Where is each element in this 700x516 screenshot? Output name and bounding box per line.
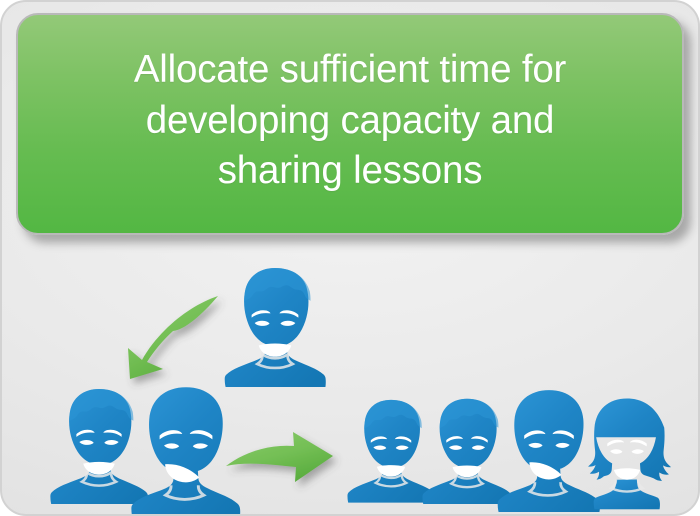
slide-canvas: Allocate sufficient time for developing …	[0, 0, 700, 516]
page-title: Allocate sufficient time for developing …	[134, 45, 566, 197]
title-banner: Allocate sufficient time for developing …	[16, 13, 684, 235]
figure-group-member-4	[580, 396, 674, 510]
arrow-knowledge-to-peers	[114, 292, 224, 382]
arrow-peers-to-group	[224, 430, 348, 492]
figure-trained-individual	[223, 265, 327, 387]
